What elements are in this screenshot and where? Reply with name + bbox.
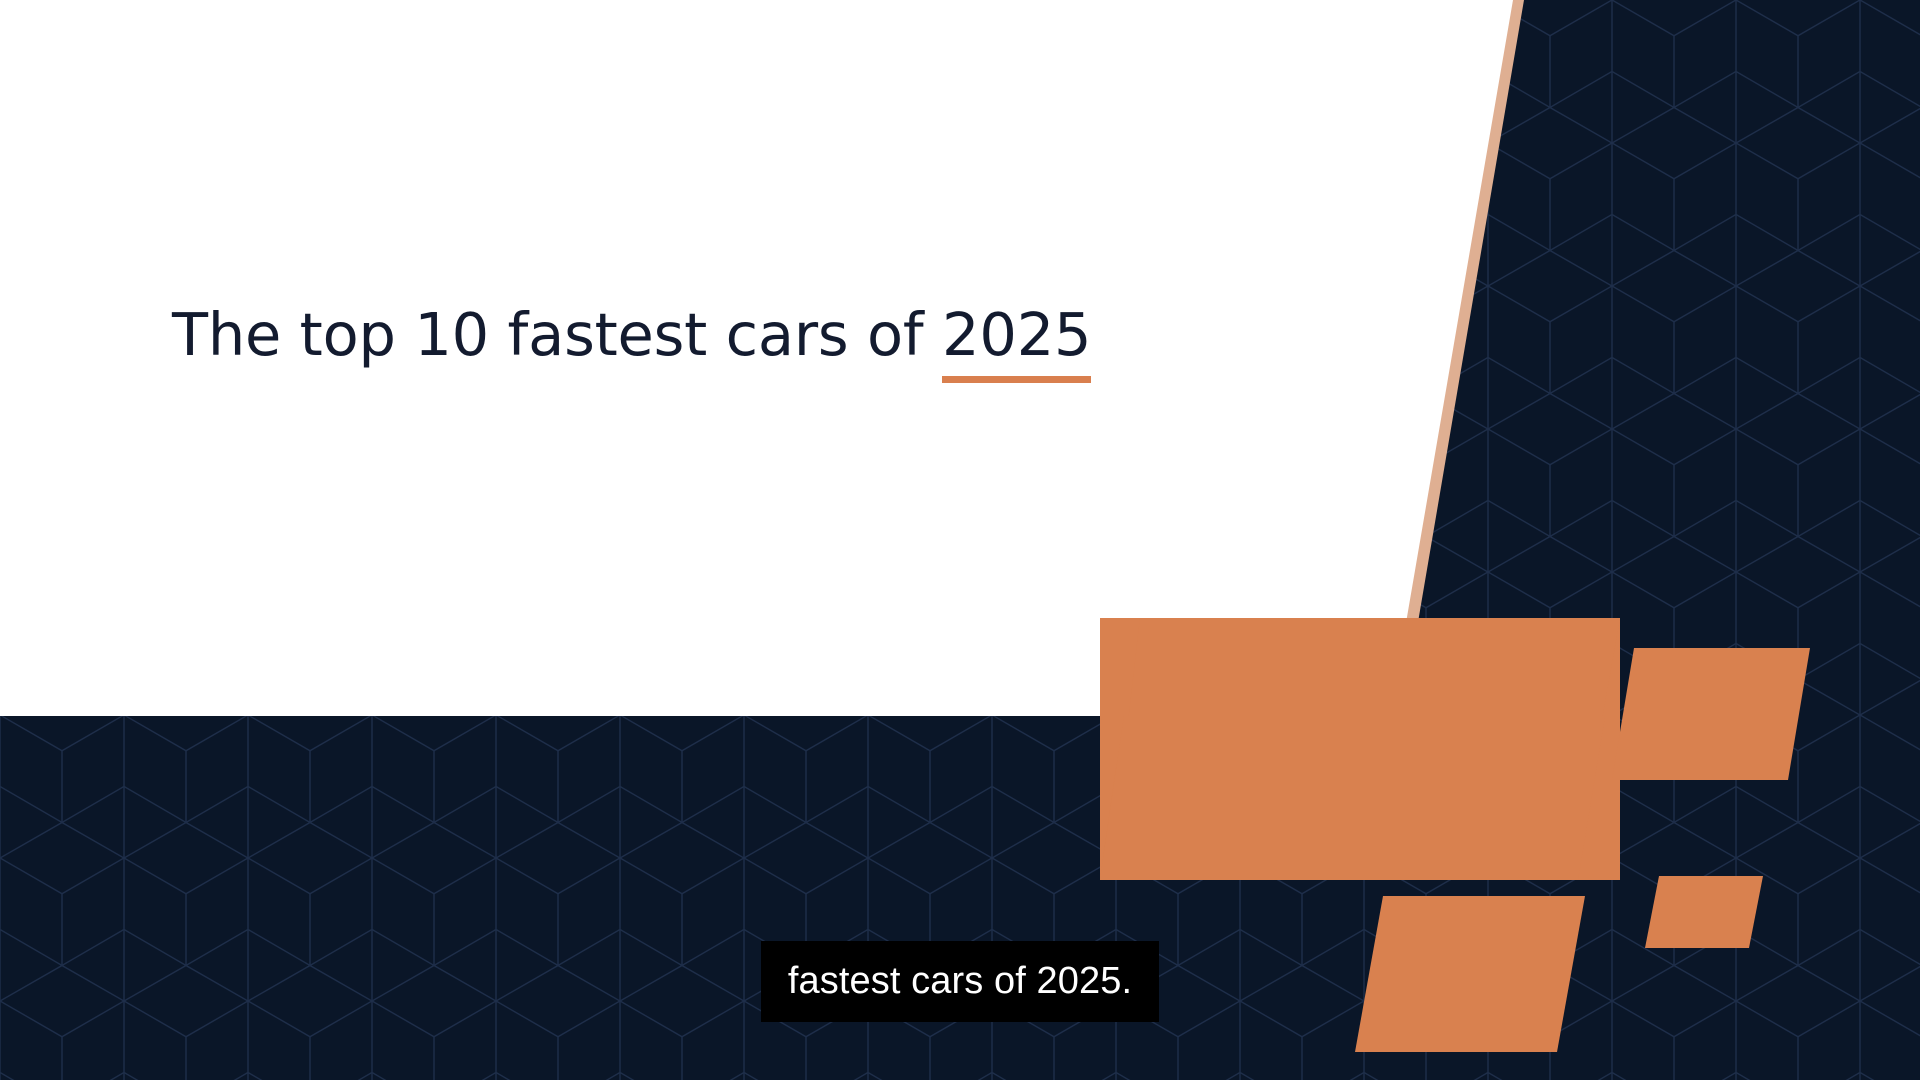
title-block: The top 10 fastest cars of 2025 [172,300,1272,370]
title-year-text: 2025 [942,300,1091,369]
year-underline-accent [942,376,1091,383]
small-parallelogram-bottom-left [1355,896,1585,1052]
tiny-parallelogram-bottom-right [1645,876,1763,948]
title-prefix-text: The top 10 fastest cars of [172,300,942,369]
slide-canvas: The top 10 fastest cars of 2025 fastest … [0,0,1920,1080]
large-parallelogram-composite [1100,618,1620,880]
medium-parallelogram-right [1612,648,1810,780]
title-year: 2025 [942,300,1091,370]
page-title: The top 10 fastest cars of 2025 [172,300,1272,370]
